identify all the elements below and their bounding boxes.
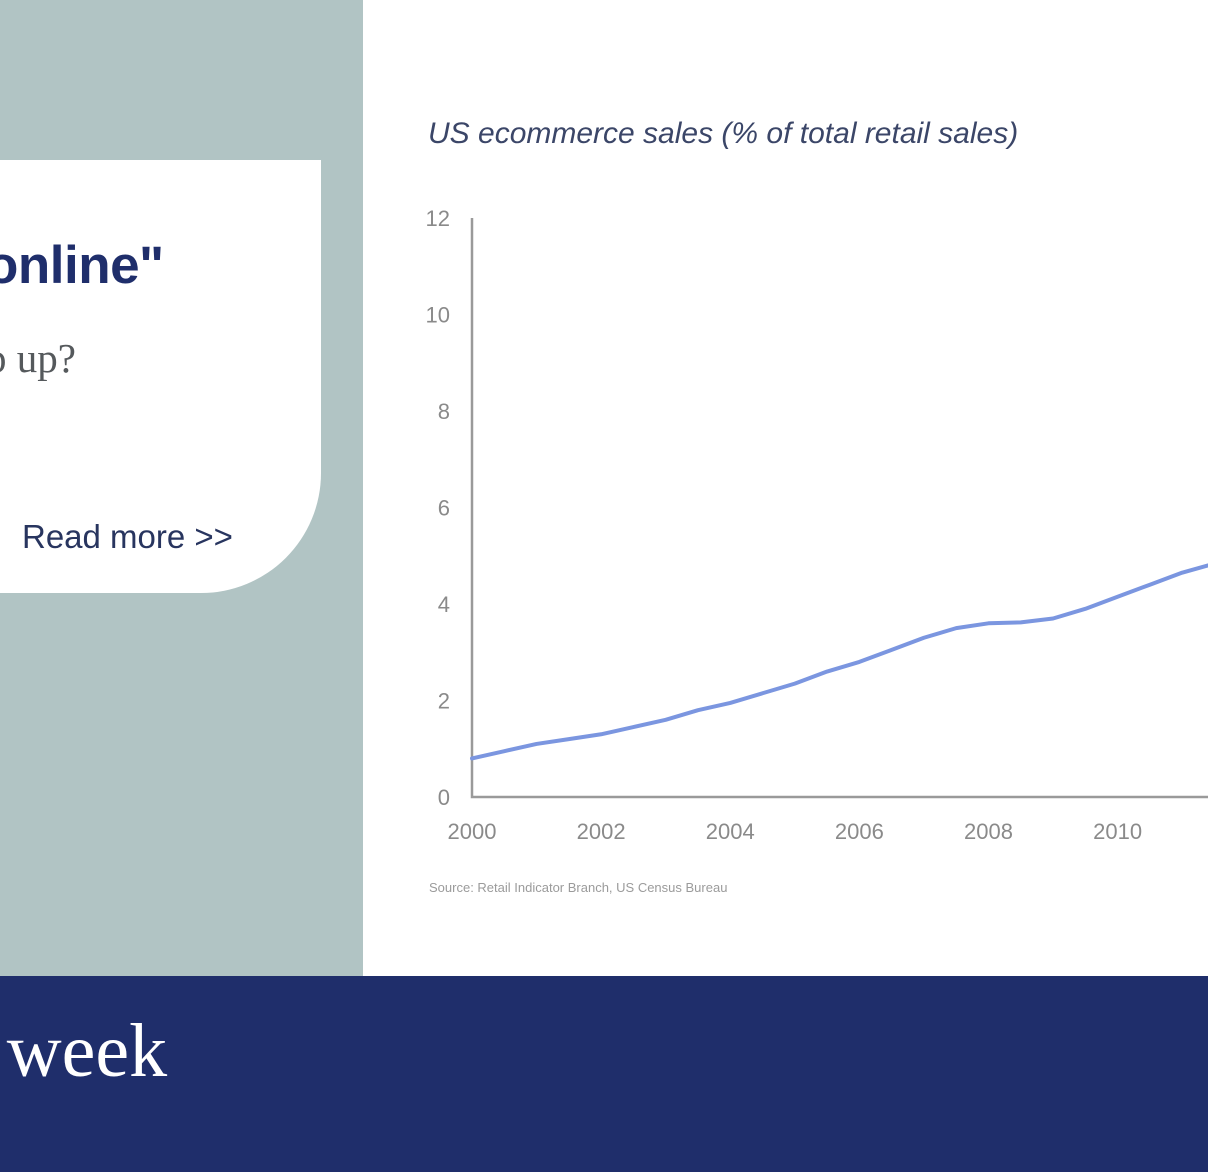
chart-source-note: Source: Retail Indicator Branch, US Cens… — [429, 880, 727, 895]
y-axis-tick-label: 4 — [438, 592, 450, 617]
y-axis-tick-label: 0 — [438, 785, 450, 810]
x-axis-tick-label: 2002 — [577, 819, 626, 844]
y-axis-tick-label: 2 — [438, 689, 450, 714]
y-axis-tick-label: 8 — [438, 399, 450, 424]
chart-panel: US ecommerce sales (% of total retail sa… — [363, 0, 1208, 976]
chart-title: US ecommerce sales (% of total retail sa… — [428, 117, 1018, 151]
x-axis-tick-label: 2006 — [835, 819, 884, 844]
promo-panel: online" p up? Read more >> — [0, 0, 363, 976]
promo-subheadline: p up? — [0, 336, 275, 381]
chart-series-line — [472, 565, 1208, 758]
y-axis-tick-label: 12 — [426, 206, 450, 231]
banner-title: e week — [0, 1008, 167, 1095]
x-axis-tick-label: 2010 — [1093, 819, 1142, 844]
x-axis-tick-label: 2008 — [964, 819, 1013, 844]
promo-card: online" p up? Read more >> — [0, 160, 321, 593]
x-axis-tick-label: 2000 — [448, 819, 497, 844]
line-chart: 024681012200020022004200620082010 — [363, 190, 1208, 850]
chart-axes — [472, 218, 1208, 797]
read-more-link[interactable]: Read more >> — [22, 518, 233, 556]
y-axis-tick-label: 10 — [426, 303, 450, 328]
x-axis-tick-label: 2004 — [706, 819, 755, 844]
y-axis-tick-label: 6 — [438, 496, 450, 521]
chart-render: 024681012200020022004200620082010 — [426, 206, 1208, 844]
promo-headline: online" — [0, 238, 275, 294]
bottom-banner: e week — [0, 976, 1208, 1172]
